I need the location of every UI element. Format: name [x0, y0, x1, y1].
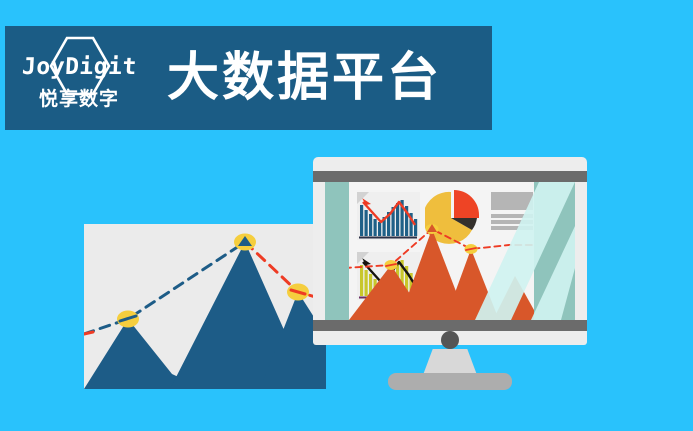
monitor-bottom-bezel — [313, 320, 587, 331]
dashboard-content — [349, 182, 534, 320]
trend-line-red-stub — [84, 332, 93, 334]
logo-chinese-name: 悦享数字 — [39, 90, 119, 109]
logo-wordmark: JoyDigit — [21, 56, 137, 79]
screen-teal-band-right — [534, 182, 575, 320]
monitor-top-bezel — [313, 171, 587, 182]
page-title: 大数据平台 — [167, 52, 442, 104]
monitor-mountain-chart — [349, 182, 534, 320]
monitor-screen[interactable] — [325, 182, 575, 320]
mountain-area-chart — [84, 224, 326, 389]
header-banner: JoyDigit 悦享数字 大数据平台 — [5, 26, 492, 130]
brand-logo: JoyDigit 悦享数字 — [19, 34, 139, 122]
mountain-shape — [493, 276, 534, 320]
monitor-power-button[interactable] — [441, 331, 459, 349]
monitor-body — [313, 157, 587, 345]
left-mountain-panel — [84, 224, 326, 389]
poster-canvas: JoyDigit 悦享数字 大数据平台 — [0, 0, 693, 431]
monitor-stand-neck — [423, 349, 477, 375]
monitor-stand-base — [388, 373, 512, 390]
desktop-monitor — [313, 157, 587, 389]
screen-teal-band-left — [325, 182, 349, 320]
